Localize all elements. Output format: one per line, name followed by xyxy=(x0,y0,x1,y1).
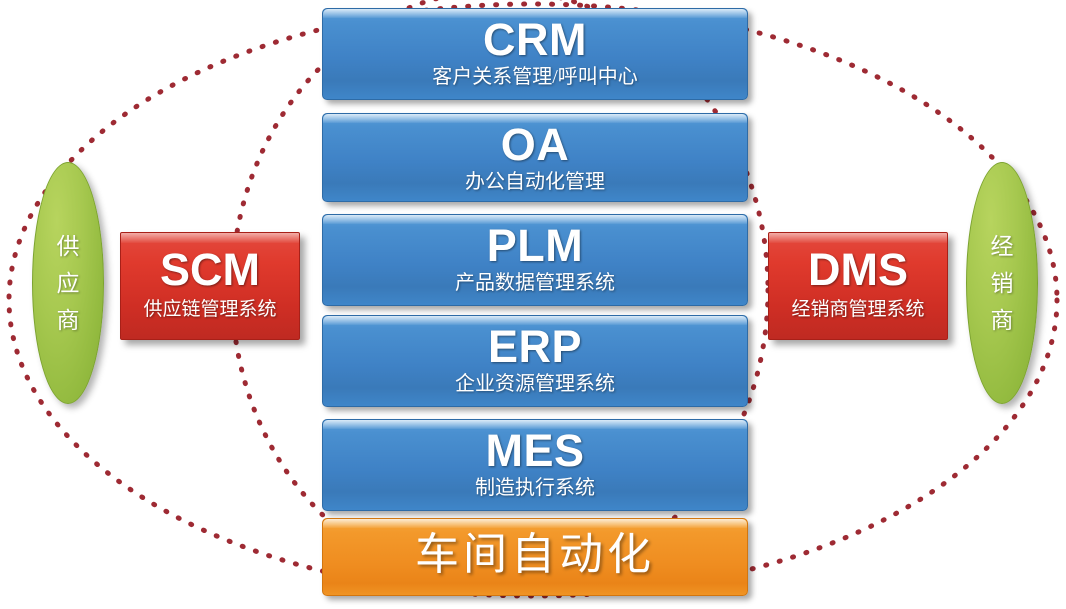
diagram-canvas: CRM 客户关系管理/呼叫中心 OA 办公自动化管理 PLM 产品数据管理系统 … xyxy=(0,0,1066,609)
system-abbr: CRM xyxy=(323,15,747,65)
system-box-oa[interactable]: OA 办公自动化管理 xyxy=(322,113,748,202)
side-box-desc: 供应链管理系统 xyxy=(121,297,299,323)
box-highlight xyxy=(769,233,947,243)
system-desc: 企业资源管理系统 xyxy=(323,372,747,396)
system-abbr: MES xyxy=(323,426,747,476)
box-highlight xyxy=(121,233,299,243)
shopfloor-label: 车间自动化 xyxy=(323,519,747,591)
partner-label: 供应商 xyxy=(55,228,81,339)
system-box-erp[interactable]: ERP 企业资源管理系统 xyxy=(322,315,748,407)
system-box-shopfloor-automation[interactable]: 车间自动化 xyxy=(322,518,748,596)
system-desc: 产品数据管理系统 xyxy=(323,271,747,295)
system-abbr: PLM xyxy=(323,221,747,271)
partner-ellipse-dealer[interactable]: 经销商 xyxy=(966,162,1038,404)
side-box-scm[interactable]: SCM 供应链管理系统 xyxy=(120,232,300,340)
system-abbr: ERP xyxy=(323,322,747,372)
system-box-mes[interactable]: MES 制造执行系统 xyxy=(322,419,748,511)
partner-ellipse-supplier[interactable]: 供应商 xyxy=(32,162,104,404)
system-desc: 客户关系管理/呼叫中心 xyxy=(323,65,747,89)
system-box-crm[interactable]: CRM 客户关系管理/呼叫中心 xyxy=(322,8,748,100)
system-desc: 制造执行系统 xyxy=(323,476,747,500)
side-box-dms[interactable]: DMS 经销商管理系统 xyxy=(768,232,948,340)
side-box-abbr: DMS xyxy=(769,243,947,297)
side-box-abbr: SCM xyxy=(121,243,299,297)
partner-label: 经销商 xyxy=(989,228,1015,339)
side-box-desc: 经销商管理系统 xyxy=(769,297,947,323)
system-abbr: OA xyxy=(323,120,747,170)
system-desc: 办公自动化管理 xyxy=(323,170,747,194)
system-box-plm[interactable]: PLM 产品数据管理系统 xyxy=(322,214,748,306)
